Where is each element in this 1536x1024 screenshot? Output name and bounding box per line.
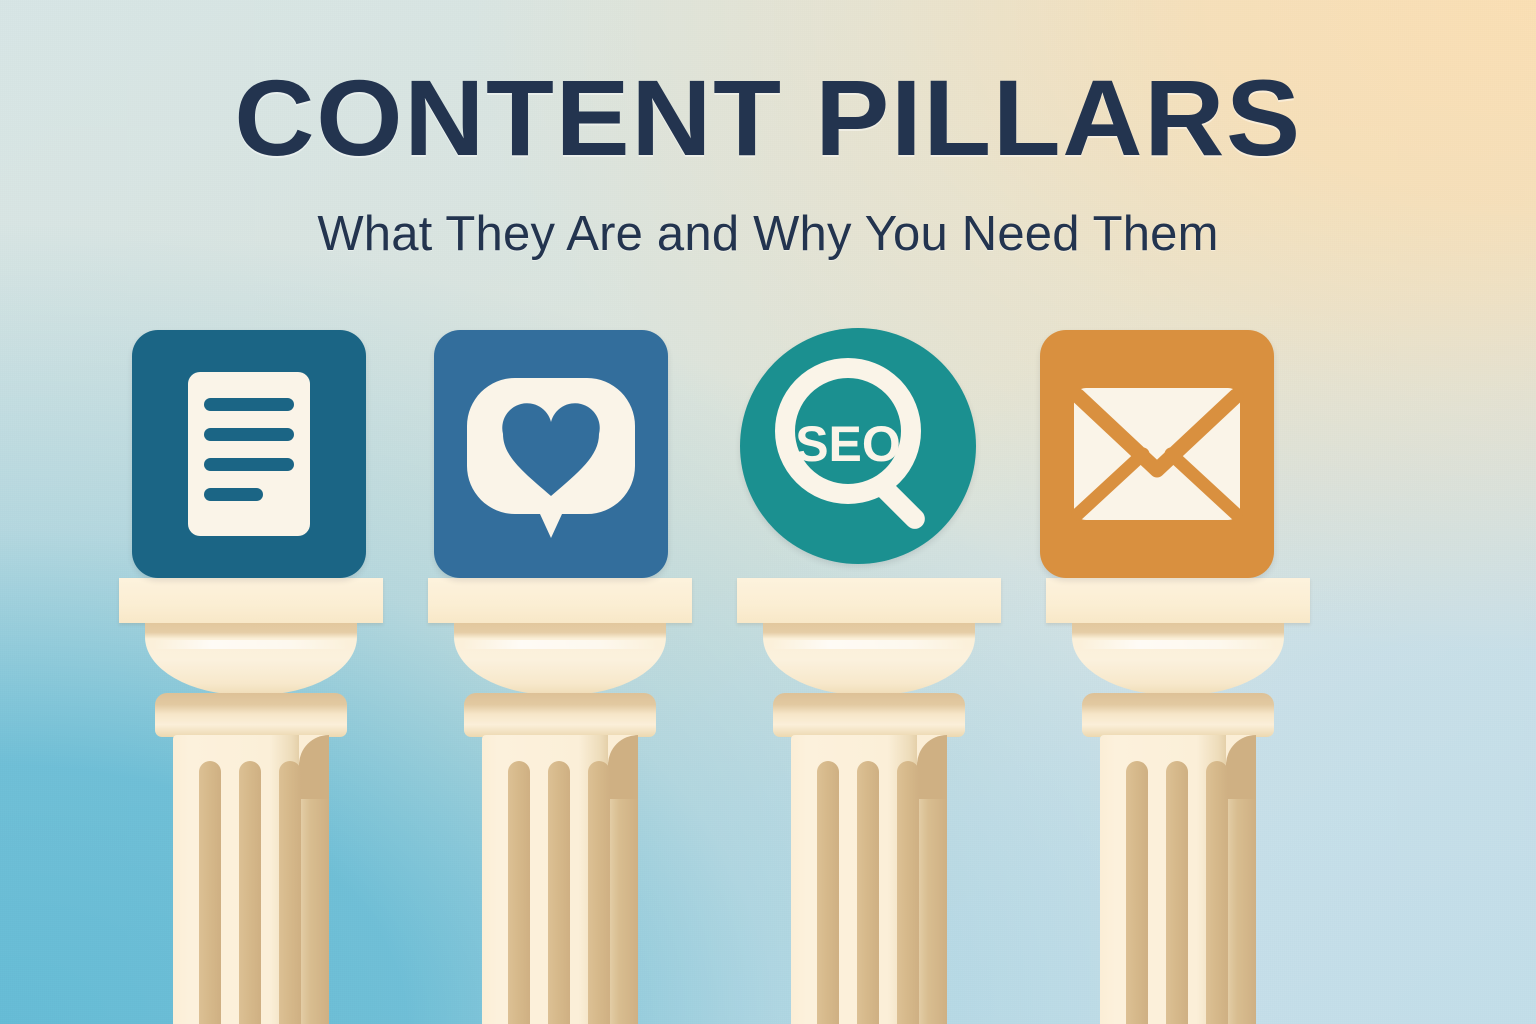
shaft-flute: [548, 761, 570, 1024]
pillar-2-torus: [464, 693, 656, 737]
pillar-3-torus: [773, 693, 965, 737]
shaft-edge-curve: [299, 735, 329, 799]
envelope-icon[interactable]: [1040, 330, 1274, 578]
pillar-1-shaft: [173, 735, 329, 1024]
seo-label: SEO: [795, 416, 901, 472]
document-icon[interactable]: [132, 330, 366, 578]
shaft-flute: [239, 761, 261, 1024]
pillar-4-shaft: [1100, 735, 1256, 1024]
shaft-flute: [817, 761, 839, 1024]
echinus-sheen: [462, 640, 657, 649]
heart-speech-bubble-icon[interactable]: [434, 330, 668, 578]
pillar-4-torus: [1082, 693, 1274, 737]
shaft-flute: [508, 761, 530, 1024]
shaft-flute: [588, 761, 610, 1024]
shaft-flute: [1126, 761, 1148, 1024]
shaft-edge-curve: [608, 735, 638, 799]
shaft-edge-curve: [917, 735, 947, 799]
pillar-3-abacus: [737, 578, 1001, 623]
echinus-sheen: [771, 640, 966, 649]
shaft-flute: [199, 761, 221, 1024]
shaft-flute: [857, 761, 879, 1024]
shaft-edge-curve: [1226, 735, 1256, 799]
shaft-flute: [1206, 761, 1228, 1024]
page-title: CONTENT PILLARS: [0, 66, 1536, 170]
pillar-3-shaft: [791, 735, 947, 1024]
pillar-2-shaft: [482, 735, 638, 1024]
shaft-flute: [279, 761, 301, 1024]
shaft-flute: [897, 761, 919, 1024]
pillar-2-abacus: [428, 578, 692, 623]
pillar-4-abacus: [1046, 578, 1310, 623]
pillar-1-abacus: [119, 578, 383, 623]
echinus-sheen: [1080, 640, 1275, 649]
echinus-sheen: [153, 640, 348, 649]
seo-magnifier-icon[interactable]: SEO: [740, 328, 976, 564]
pillar-1-torus: [155, 693, 347, 737]
shaft-flute: [1166, 761, 1188, 1024]
page-subtitle: What They Are and Why You Need Them: [0, 205, 1536, 263]
